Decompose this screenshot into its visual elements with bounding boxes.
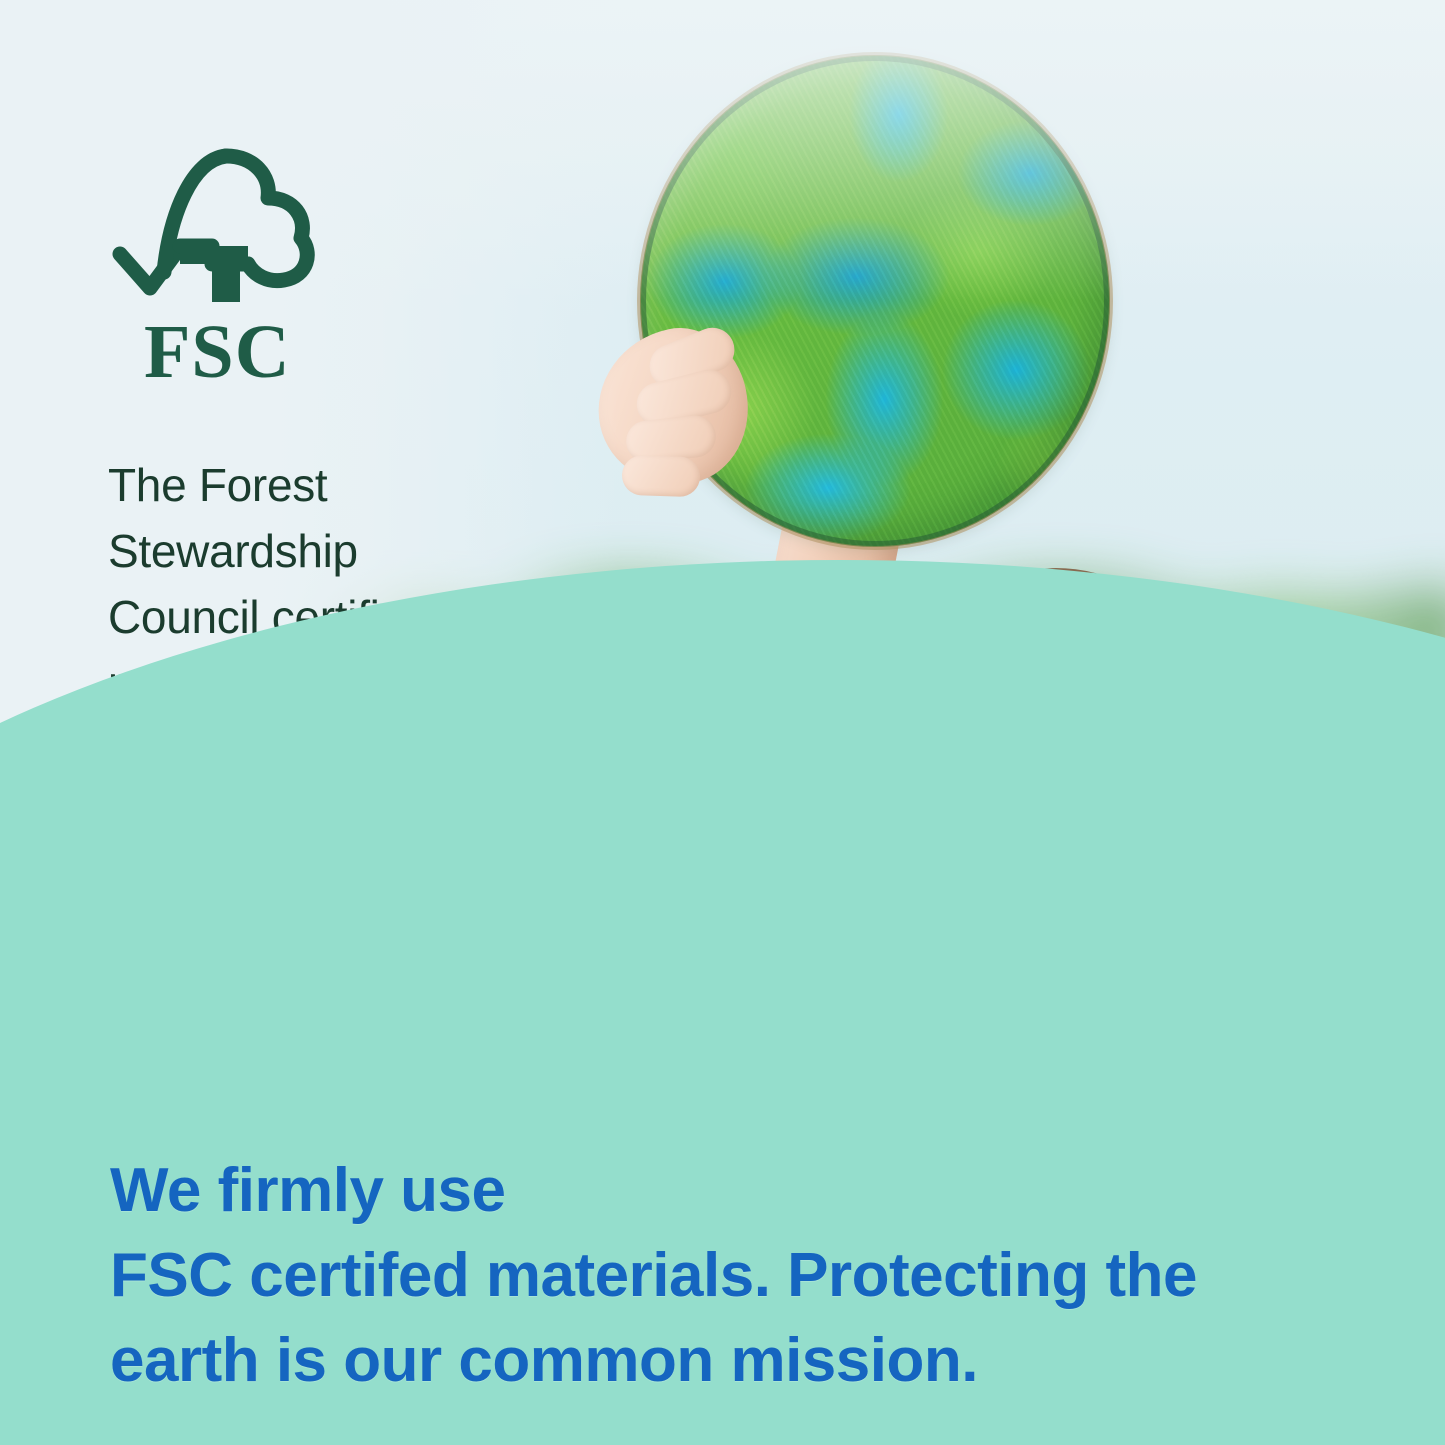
fsc-tree-checkmark-icon	[108, 142, 328, 312]
footer-headline: We firmly use FSC certifed materials. Pr…	[110, 1148, 1390, 1403]
fsc-wordmark: FSC	[144, 314, 291, 390]
finger	[621, 455, 700, 498]
fsc-promotional-banner: FSC The Forest Stewardship Council certi…	[0, 0, 1445, 1445]
fsc-logo: FSC	[108, 142, 328, 392]
